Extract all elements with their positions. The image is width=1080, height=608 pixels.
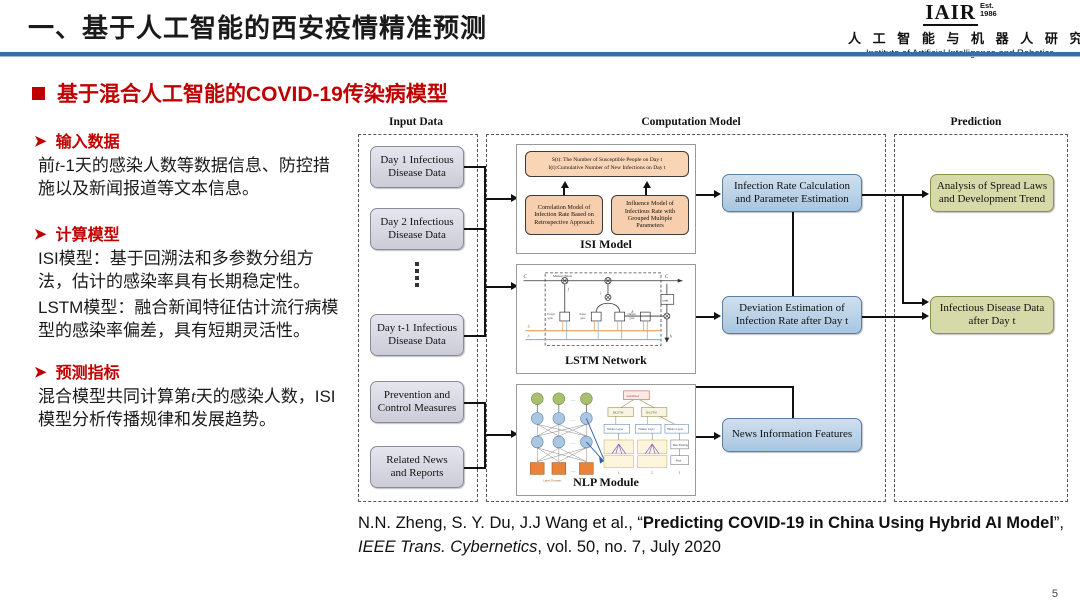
svg-text:1: 1 bbox=[618, 470, 620, 474]
arrow-bullet-icon: ➤ bbox=[34, 365, 47, 380]
svg-text:h: h bbox=[527, 334, 529, 339]
citation-rest: , vol. 50, no. 7, July 2020 bbox=[537, 538, 720, 556]
svg-text:gate: gate bbox=[630, 316, 636, 320]
isi-correlation-model-label: Correlation Model of Infection Rate Base… bbox=[528, 204, 600, 226]
section-heading-label: 基于混合人工智能的COVID-19传染病模型 bbox=[57, 78, 448, 108]
left-text-column: ➤ 输入数据 前t-1天的感染人数等数据信息、防控措施以及新闻报道等文本信息。 … bbox=[34, 126, 346, 432]
citation-authors: N.N. Zheng, S. Y. Du, J.J Wang et al., “ bbox=[358, 514, 643, 532]
nlp-module-title: NLP Module bbox=[517, 475, 695, 490]
svg-text:BiLSTM: BiLSTM bbox=[613, 410, 624, 414]
column-label-computation-model: Computation Model bbox=[546, 116, 836, 128]
svg-text:Hidden Layer: Hidden Layer bbox=[667, 427, 683, 431]
node-line2: Control Measures bbox=[378, 402, 457, 414]
isi-formula-box: S(t): The Number of Susceptible People o… bbox=[525, 151, 689, 177]
connector bbox=[464, 402, 486, 404]
paragraph-isi-model: ISI模型：基于回溯法和多参数分组方法，估计的感染率具有长期稳定性。 bbox=[38, 247, 346, 294]
connector bbox=[484, 286, 512, 288]
svg-text:2: 2 bbox=[651, 470, 653, 474]
arrow-icon bbox=[714, 312, 721, 320]
arrow-bullet-icon: ➤ bbox=[34, 227, 47, 242]
node-infectious-disease-data-after[interactable]: Infectious Disease Dataafter Day t bbox=[930, 296, 1054, 334]
node-line2: after Day t bbox=[968, 315, 1015, 327]
arrow-icon bbox=[714, 190, 721, 198]
citation-journal: IEEE Trans. Cybernetics bbox=[358, 538, 537, 556]
slide-header: 一、基于人工智能的西安疫情精准预测 IAIREst.1986 人 工 智 能 与… bbox=[0, 0, 1080, 56]
svg-text:gate: gate bbox=[580, 316, 586, 320]
node-day1-data[interactable]: Day 1 InfectiousDisease Data bbox=[370, 146, 464, 188]
column-label-prediction: Prediction bbox=[901, 116, 1051, 128]
arrow-icon bbox=[714, 432, 721, 440]
vertical-ellipsis-icon bbox=[415, 262, 419, 287]
node-line1: Day t-1 Infectious bbox=[377, 322, 457, 334]
isi-influence-model-label: Influence Model of Infectious Rate with … bbox=[614, 200, 686, 230]
node-prevention-measures[interactable]: Prevention andControl Measures bbox=[370, 381, 464, 423]
node-news-information-features[interactable]: News Information Features bbox=[722, 418, 862, 452]
logo-wordmark: IAIR bbox=[923, 2, 978, 26]
isi-correlation-model-box[interactable]: Correlation Model of Infection Rate Base… bbox=[525, 195, 603, 235]
connector bbox=[696, 194, 716, 196]
page-title: 一、基于人工智能的西安疫情精准预测 bbox=[28, 8, 487, 45]
connector bbox=[792, 212, 794, 296]
connector bbox=[902, 302, 924, 304]
node-day-t-1-data[interactable]: Day t-1 InfectiousDisease Data bbox=[370, 314, 464, 356]
svg-text:3: 3 bbox=[679, 470, 681, 474]
connector bbox=[696, 436, 716, 438]
node-line1: Related News bbox=[386, 454, 447, 466]
isi-model-panel: S(t): The Number of Susceptible People o… bbox=[516, 144, 696, 254]
header-divider-light bbox=[0, 56, 1080, 57]
svg-text:Pool: Pool bbox=[676, 459, 682, 463]
node-line2: and Reports bbox=[391, 467, 444, 479]
connector bbox=[484, 166, 486, 286]
svg-text:X: X bbox=[526, 324, 530, 329]
lstm-network-panel: Memory Block C C f i Forget gate bbox=[516, 264, 696, 374]
node-deviation-estimation[interactable]: Deviation Estimation ofInfection Rate af… bbox=[722, 296, 862, 334]
square-bullet-icon bbox=[32, 87, 45, 100]
paragraph-lstm-model: LSTM模型：融合新闻特征估计流行病模型的感染率偏差，具有短期灵活性。 bbox=[38, 296, 346, 343]
node-related-news[interactable]: Related Newsand Reports bbox=[370, 446, 464, 488]
subheading-label: 预测指标 bbox=[56, 359, 120, 383]
connector bbox=[696, 386, 794, 388]
architecture-diagram: Input Data Computation Model Prediction … bbox=[356, 116, 1068, 508]
citation-quote-close: ”, bbox=[1054, 514, 1064, 532]
node-line2: and Development Trend bbox=[939, 193, 1045, 205]
svg-text:Max Pooling: Max Pooling bbox=[673, 443, 689, 447]
svg-text:…: … bbox=[571, 417, 576, 422]
isi-model-title: ISI Model bbox=[517, 237, 695, 252]
svg-text:gate: gate bbox=[548, 316, 554, 320]
svg-text:Memory Block: Memory Block bbox=[553, 274, 572, 278]
svg-text:f: f bbox=[568, 288, 570, 292]
subheading-prediction-index: ➤ 预测指标 bbox=[34, 359, 346, 383]
node-line1: Analysis of Spread Laws bbox=[937, 180, 1047, 192]
node-line1: Infectious Disease Data bbox=[940, 302, 1044, 314]
paragraph-input-data: 前t-1天的感染人数等数据信息、防控措施以及新闻报道等文本信息。 bbox=[38, 154, 346, 201]
svg-text:Hidden Layer: Hidden Layer bbox=[638, 427, 654, 431]
node-line1: Day 1 Infectious bbox=[380, 154, 453, 166]
svg-text:C: C bbox=[524, 275, 528, 280]
svg-text:word2vec: word2vec bbox=[627, 394, 640, 398]
isi-formula-line1: S(t): The Number of Susceptible People o… bbox=[552, 157, 662, 163]
arrow-icon bbox=[922, 312, 929, 320]
node-line2: and Parameter Estimation bbox=[735, 193, 849, 205]
node-line2: Disease Data bbox=[388, 335, 446, 347]
arrow-icon bbox=[922, 190, 929, 198]
node-line1: Day 2 Infectious bbox=[380, 216, 453, 228]
logo-name-cn: 人 工 智 能 与 机 器 人 研 究 所 bbox=[848, 28, 1072, 47]
svg-text:…: … bbox=[571, 398, 576, 403]
connector bbox=[484, 286, 486, 335]
node-infection-rate-calculation[interactable]: Infection Rate Calculationand Parameter … bbox=[722, 174, 862, 212]
lstm-network-title: LSTM Network bbox=[517, 353, 695, 368]
arrow-icon bbox=[922, 298, 929, 306]
isi-influence-model-box[interactable]: Influence Model of Infectious Rate with … bbox=[611, 195, 689, 235]
svg-text:C: C bbox=[665, 275, 669, 280]
node-day2-data[interactable]: Day 2 InfectiousDisease Data bbox=[370, 208, 464, 250]
connector bbox=[902, 194, 904, 302]
citation-text: N.N. Zheng, S. Y. Du, J.J Wang et al., “… bbox=[358, 512, 1070, 560]
svg-text:…: … bbox=[571, 441, 576, 446]
node-line1: News Information Features bbox=[732, 428, 852, 440]
subheading-computation-model: ➤ 计算模型 bbox=[34, 221, 346, 245]
connector bbox=[792, 386, 794, 418]
nlp-module-panel: … … … bbox=[516, 384, 696, 496]
node-line2: Disease Data bbox=[388, 229, 446, 241]
connector bbox=[484, 198, 512, 200]
citation-title: Predicting COVID-19 in China Using Hybri… bbox=[643, 514, 1054, 532]
svg-text:h: h bbox=[632, 310, 634, 314]
connector bbox=[464, 335, 486, 337]
svg-text:tanh: tanh bbox=[662, 298, 668, 302]
subheading-label: 输入数据 bbox=[56, 128, 120, 152]
svg-text:i: i bbox=[600, 291, 601, 295]
node-analysis-spread-laws[interactable]: Analysis of Spread Lawsand Development T… bbox=[930, 174, 1054, 212]
isi-formula-line2: I(t):Cumulative Number of New Infections… bbox=[549, 165, 666, 171]
svg-text:BiLSTM: BiLSTM bbox=[646, 410, 657, 414]
svg-text:h: h bbox=[670, 335, 672, 339]
svg-text:…: … bbox=[571, 468, 576, 473]
connector bbox=[464, 166, 486, 168]
svg-text:Hidden Layer: Hidden Layer bbox=[607, 427, 623, 431]
paragraph-prediction-index: 混合模型共同计算第t天的感染人数，ISI模型分析传播规律和发展趋势。 bbox=[38, 385, 346, 432]
section-heading: 基于混合人工智能的COVID-19传染病模型 bbox=[32, 78, 448, 108]
node-line2: Infection Rate after Day t bbox=[736, 315, 848, 327]
page-number: 5 bbox=[1052, 588, 1058, 600]
column-label-input-data: Input Data bbox=[356, 116, 476, 128]
institute-logo: IAIREst.1986 人 工 智 能 与 机 器 人 研 究 所 Insti… bbox=[848, 2, 1072, 59]
connector bbox=[862, 194, 924, 196]
connector bbox=[464, 467, 486, 469]
connector bbox=[862, 316, 924, 318]
subheading-input-data: ➤ 输入数据 bbox=[34, 128, 346, 152]
node-line2: Disease Data bbox=[388, 167, 446, 179]
subheading-label: 计算模型 bbox=[56, 221, 120, 245]
connector bbox=[696, 316, 716, 318]
connector bbox=[464, 228, 486, 230]
arrow-bullet-icon: ➤ bbox=[34, 134, 47, 149]
node-line1: Prevention and bbox=[384, 389, 450, 401]
connector bbox=[484, 434, 512, 436]
node-line1: Deviation Estimation of bbox=[739, 302, 845, 314]
logo-est: Est.1986 bbox=[980, 2, 997, 18]
node-line1: Infection Rate Calculation bbox=[734, 180, 850, 192]
